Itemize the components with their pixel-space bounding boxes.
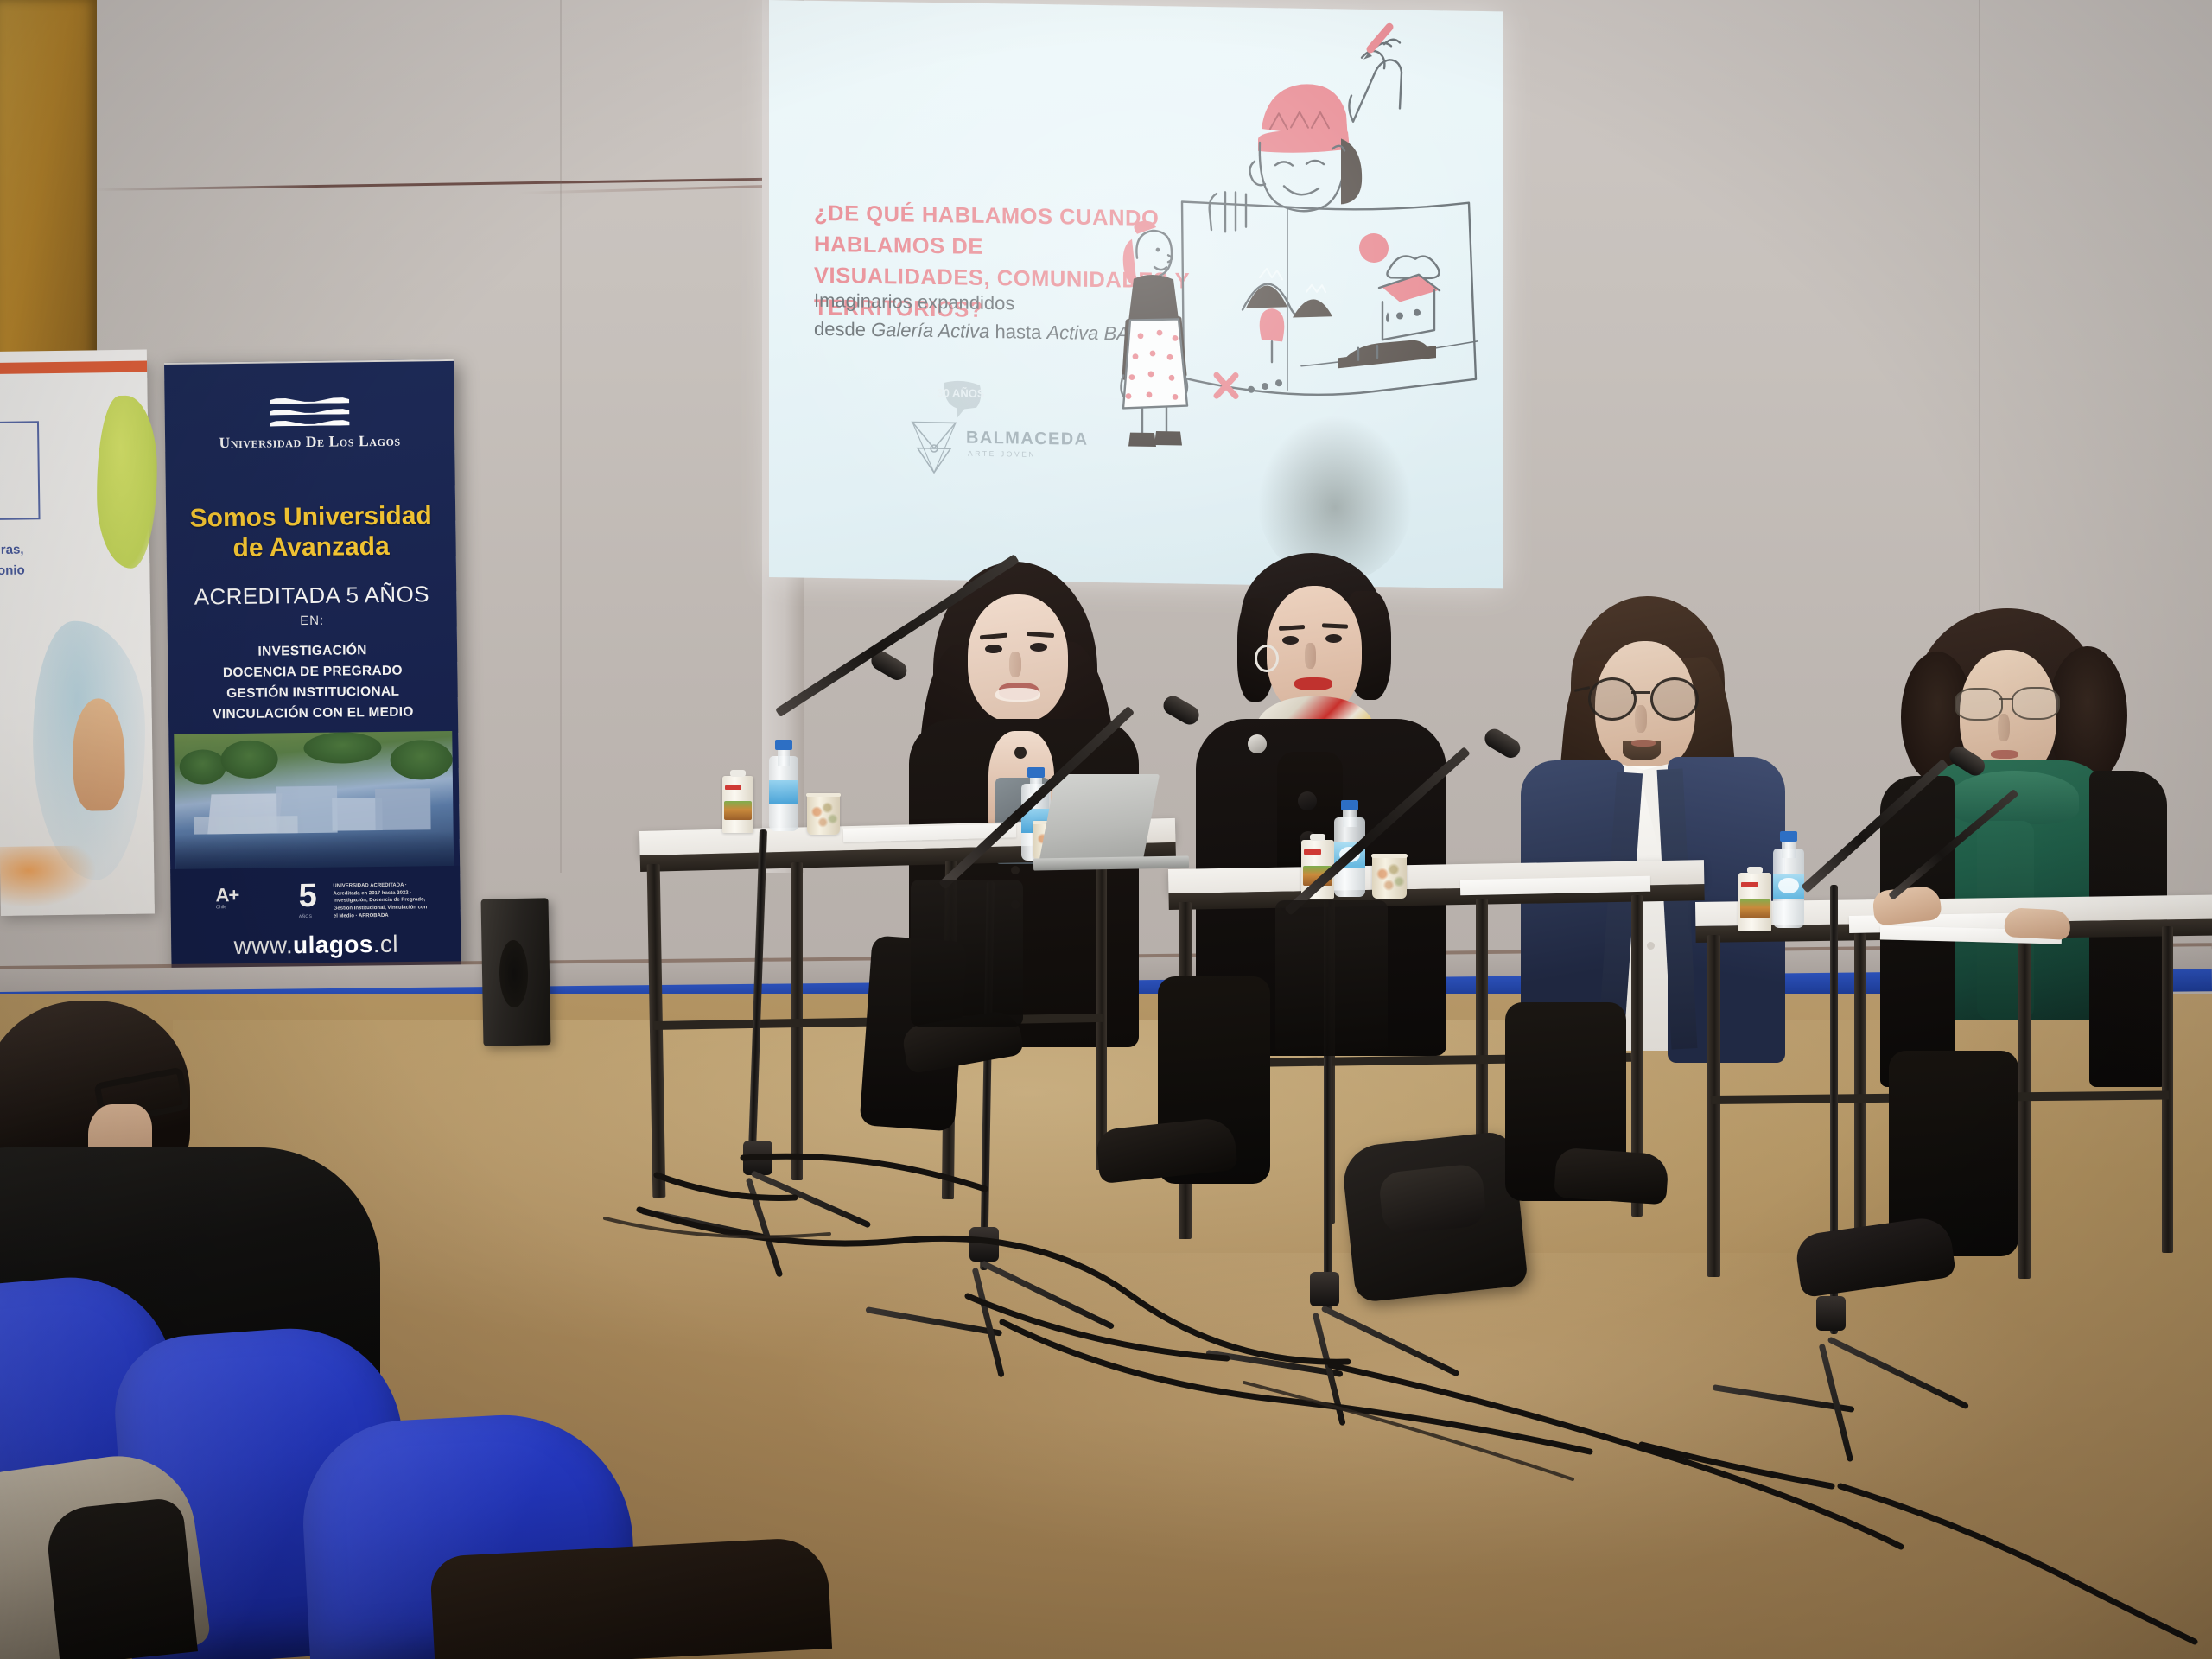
juice-carton-1[interactable] <box>722 776 753 833</box>
hoop-earring-icon <box>1255 645 1279 672</box>
lapel-pin-icon <box>1248 734 1267 753</box>
water-bottle-4[interactable] <box>1773 831 1804 928</box>
poster-orange-graphic <box>0 845 96 907</box>
conference-photo-scene: ¿DE QUÉ HABLAMOS CUANDO HABLAMOS DE VISU… <box>0 0 2212 1659</box>
banner-headline: Somos Universidad de Avanzada <box>166 501 456 565</box>
panelist-4-hand <box>1872 885 1942 926</box>
accreditation-fineprint: UNIVERSIDAD ACREDITADA · Acreditada en 2… <box>333 881 429 920</box>
poster-headline-2: …Patrimonio <box>0 562 91 578</box>
accreditation-years-label: AÑOS <box>299 914 312 919</box>
balmaceda-tagline: ARTE JOVEN <box>968 449 1036 459</box>
accreditation-years-number: 5 <box>298 878 317 915</box>
poster-left-edge: …s Culturas, …Patrimonio <box>0 361 155 916</box>
audience-member-2-sleeve <box>44 1497 198 1659</box>
ulagos-logo: Universidad De Los Lagos <box>165 396 455 453</box>
accreditation-logos: A+ Chile 5 AÑOS UNIVERSIDAD ACREDITADA ·… <box>215 878 423 920</box>
panelist-chair-2 <box>1275 900 1388 1056</box>
accreditor-mark: A+ <box>215 884 238 906</box>
panelist-3 <box>1503 596 1797 1063</box>
poster-leaf-graphic <box>96 395 159 569</box>
wave-icon <box>270 419 349 426</box>
paper-cup-3[interactable] <box>1372 854 1407 899</box>
panelist-chair-1 <box>911 880 1023 1027</box>
paper-cup-1[interactable] <box>807 793 840 835</box>
backpack-pocket <box>1378 1163 1488 1236</box>
banner-campus-photo <box>174 731 454 873</box>
wire-glasses-icon <box>1955 688 2067 719</box>
wave-icon <box>270 397 349 404</box>
banner-area-item: VINCULACIÓN CON EL MEDIO <box>168 702 458 726</box>
laptop-lid[interactable] <box>1039 774 1160 864</box>
wall-joint <box>560 0 562 873</box>
panelist-4 <box>1875 605 2160 1089</box>
slide-italic-galeria: Galería Activa <box>871 319 989 342</box>
panelist-3-shoe <box>1554 1147 1669 1205</box>
banner-website-url: www.ulagos.cl <box>171 930 461 961</box>
ulagos-rollup-banner: Universidad De Los Lagos Somos Universid… <box>164 359 461 1007</box>
poster-top-orange-bar <box>0 361 147 374</box>
juice-carton-3[interactable] <box>1738 873 1771 931</box>
balmaceda-wordmark: BALMACEDA <box>966 429 1088 450</box>
water-bottle-1[interactable] <box>769 740 798 831</box>
wave-icon <box>270 408 349 415</box>
wall-wood-panel <box>0 0 97 363</box>
svg-text:30 AÑOS: 30 AÑOS <box>938 386 985 400</box>
banner-areas-list: INVESTIGACIÓN DOCENCIA DE PREGRADO GESTI… <box>168 639 458 726</box>
banner-en-label: EN: <box>168 612 457 630</box>
poster-headline-1: …s Culturas, <box>0 541 91 557</box>
banner-accreditation: ACREDITADA 5 AÑOS <box>167 581 456 611</box>
badge-30-anos-icon: 30 AÑOS <box>938 379 985 420</box>
panelist-4-hand-right <box>2004 907 2071 940</box>
ulagos-institution-name: Universidad De Los Lagos <box>165 431 454 453</box>
seat-arm-shadow <box>429 1536 832 1659</box>
accreditor-mark-sub: Chile <box>216 904 285 911</box>
round-glasses-icon <box>1588 677 1706 715</box>
loudspeaker-cabinet <box>481 898 551 1046</box>
poster-text-box <box>0 421 41 520</box>
balmaceda-logo: 30 AÑOS BALMACEDA ARTE JOVEN <box>909 409 1108 478</box>
